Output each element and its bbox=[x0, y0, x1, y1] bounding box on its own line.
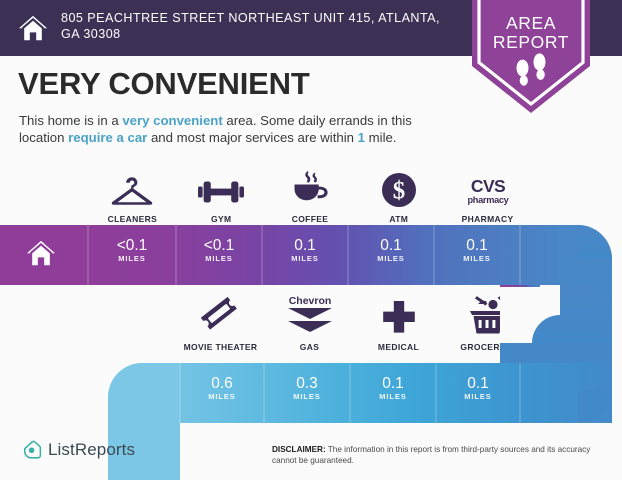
distance-value-coffee: 0.1 MILES bbox=[262, 237, 348, 264]
distance-unit: MILES bbox=[350, 392, 436, 402]
distance-number: 0.1 bbox=[350, 375, 436, 392]
page-title: VERY CONVENIENT bbox=[18, 66, 310, 102]
home-marker-icon bbox=[26, 238, 56, 268]
amenity-cleaners: CLEANERS bbox=[88, 168, 177, 224]
cvs-wordmark: CVS bbox=[470, 176, 504, 196]
distance-unit: MILES bbox=[262, 254, 348, 264]
amenity-label: CLEANERS bbox=[108, 214, 158, 224]
area-report-badge: AREA REPORT bbox=[472, 0, 590, 113]
distance-value-cleaners: <0.1 MILES bbox=[88, 237, 176, 264]
clothes-hanger-icon bbox=[111, 168, 153, 208]
badge-line-2: REPORT bbox=[472, 33, 590, 52]
distance-number: 0.1 bbox=[436, 375, 520, 392]
distance-number: 0.6 bbox=[180, 375, 264, 392]
distance-number: <0.1 bbox=[176, 237, 262, 254]
distance-value-gas: 0.3 MILES bbox=[264, 375, 350, 402]
intro-part-1: This home is in a bbox=[19, 113, 122, 128]
distance-unit: MILES bbox=[176, 254, 262, 264]
disclaimer: DISCLAIMER: The information in this repo… bbox=[272, 444, 602, 466]
amenity-label: ATM bbox=[389, 214, 408, 224]
svg-text:$: $ bbox=[393, 178, 406, 205]
distance-value-pharmacy: 0.1 MILES bbox=[434, 237, 520, 264]
distance-unit: MILES bbox=[264, 392, 350, 402]
distance-value-groceries: 0.1 MILES bbox=[436, 375, 520, 402]
distance-number: 0.3 bbox=[264, 375, 350, 392]
area-report-page: 805 PEACHTREE STREET NORTHEAST UNIT 415,… bbox=[0, 0, 622, 480]
property-address: 805 PEACHTREE STREET NORTHEAST UNIT 415,… bbox=[61, 11, 451, 42]
dumbbell-icon bbox=[197, 168, 245, 208]
amenity-label: GYM bbox=[211, 214, 231, 224]
distance-unit: MILES bbox=[88, 254, 176, 264]
amenity-label: COFFEE bbox=[292, 214, 329, 224]
distance-unit: MILES bbox=[348, 254, 434, 264]
distance-value-gym: <0.1 MILES bbox=[176, 237, 262, 264]
amenity-label: PHARMACY bbox=[462, 214, 514, 224]
amenity-pharmacy: CVS pharmacy PHARMACY bbox=[443, 168, 532, 224]
listreports-house-pin-icon bbox=[22, 440, 42, 460]
disclaimer-label: DISCLAIMER: bbox=[272, 445, 326, 454]
distance-unit: MILES bbox=[434, 254, 520, 264]
pharmacy-wordmark: pharmacy bbox=[467, 195, 509, 205]
dollar-circle-icon: $ bbox=[381, 168, 417, 208]
distance-value-movie-theater: 0.6 MILES bbox=[180, 375, 264, 402]
distance-number: 0.1 bbox=[434, 237, 520, 254]
distance-number: 0.1 bbox=[262, 237, 348, 254]
distance-number: <0.1 bbox=[88, 237, 176, 254]
amenity-atm: $ ATM bbox=[354, 168, 443, 224]
home-icon bbox=[18, 13, 48, 43]
distance-value-medical: 0.1 MILES bbox=[350, 375, 436, 402]
listreports-wordmark: ListReports bbox=[48, 440, 135, 460]
amenity-gym: GYM bbox=[177, 168, 266, 224]
intro-paragraph: This home is in a very convenient area. … bbox=[19, 112, 451, 146]
listreports-logo: ListReports bbox=[22, 440, 135, 460]
cvs-pharmacy-logo: CVS pharmacy bbox=[457, 168, 519, 208]
distance-unit: MILES bbox=[180, 392, 264, 402]
intro-part-4: mile. bbox=[365, 130, 397, 145]
distance-unit: MILES bbox=[436, 392, 520, 402]
intro-highlight-1: very convenient bbox=[122, 113, 222, 128]
amenity-icon-row-1: CLEANERS GYM bbox=[88, 168, 532, 224]
badge-line-1: AREA bbox=[472, 14, 590, 33]
coffee-cup-icon bbox=[289, 168, 331, 208]
badge-text: AREA REPORT bbox=[472, 14, 590, 52]
intro-highlight-3: 1 bbox=[358, 130, 365, 145]
distance-value-atm: 0.1 MILES bbox=[348, 237, 434, 264]
intro-highlight-2: require a car bbox=[68, 130, 147, 145]
intro-part-3: and most major services are within bbox=[147, 130, 357, 145]
amenity-coffee: COFFEE bbox=[266, 168, 355, 224]
distance-number: 0.1 bbox=[348, 237, 434, 254]
